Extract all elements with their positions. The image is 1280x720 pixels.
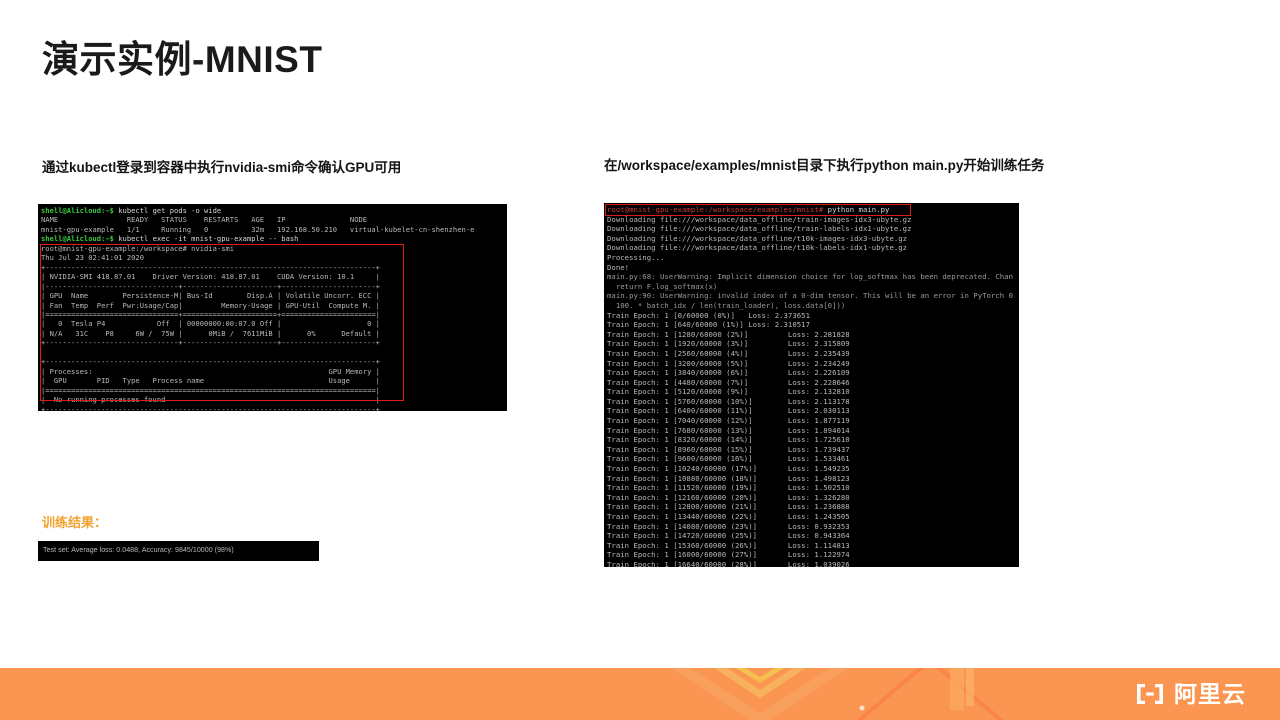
train-log-line: Train Epoch: 1 [8960/60000 (15%)] Loss: …: [607, 445, 1019, 455]
train-log-line: Train Epoch: 1 [5120/60000 (9%)] Loss: 2…: [607, 387, 1019, 397]
train-log-line: Train Epoch: 1 [7680/60000 (13%)] Loss: …: [607, 426, 1019, 436]
pods-table-row: mnist-gpu-example 1/1 Running 0 32m 192.…: [41, 225, 507, 234]
page-title: 演示实例-MNIST: [42, 40, 322, 81]
train-log-line: Train Epoch: 1 [12800/60000 (21%)] Loss:…: [607, 502, 1019, 512]
train-log-line: Train Epoch: 1 [4480/60000 (7%)] Loss: 2…: [607, 378, 1019, 388]
terminal-line: Downloading file:///workspace/data_offli…: [607, 234, 1019, 244]
terminal-line: Processing...: [607, 253, 1019, 263]
nvidia-smi-output: root@mnist-gpu-example:/workspace# nvidi…: [41, 244, 507, 411]
test-result-box: Test set: Average loss: 0.0488, Accuracy…: [38, 541, 319, 561]
terminal-line: | NVIDIA-SMI 418.87.01 Driver Version: 4…: [41, 272, 507, 281]
terminal-line: shell@Alicloud:~$ kubectl get pods -o wi…: [41, 206, 507, 215]
footer-chevron-decoration: [0, 668, 1280, 720]
terminal-line: | N/A 31C P8 6W / 75W | 0MiB / 7611MiB |…: [41, 329, 507, 338]
train-log-line: Train Epoch: 1 [14080/60000 (23%)] Loss:…: [607, 522, 1019, 532]
terminal-line: | GPU Name Persistence-M| Bus-Id Disp.A …: [41, 291, 507, 300]
terminal-line: shell@Alicloud:~$ kubectl exec -it mnist…: [41, 234, 507, 243]
terminal-screenshot-training: root@mnist-gpu-example:/workspace/exampl…: [604, 203, 1019, 567]
terminal-line: |===============================+=======…: [41, 310, 507, 319]
alibaba-cloud-bracket-icon: [1133, 682, 1167, 706]
pods-table-header: NAME READY STATUS RESTARTS AGE IP NODE: [41, 215, 507, 224]
caption-left: 通过kubectl登录到容器中执行nvidia-smi命令确认GPU可用: [42, 158, 562, 178]
train-log-line: Train Epoch: 1 [12160/60000 (20%)] Loss:…: [607, 493, 1019, 503]
terminal-line: Downloading file:///workspace/data_offli…: [607, 243, 1019, 253]
train-log-line: Train Epoch: 1 [640/60000 (1%)] Loss: 2.…: [607, 320, 1019, 330]
brand-logo-text: 阿里云: [1174, 683, 1246, 706]
terminal-line: [41, 348, 507, 357]
train-log-line: Train Epoch: 1 [15360/60000 (26%)] Loss:…: [607, 541, 1019, 551]
terminal-line: +-------------------------------+-------…: [41, 338, 507, 347]
terminal-line: |-------------------------------+-------…: [41, 282, 507, 291]
train-log-line: Train Epoch: 1 [14720/60000 (25%)] Loss:…: [607, 531, 1019, 541]
terminal-line: +---------------------------------------…: [41, 357, 507, 366]
terminal-right-content: root@mnist-gpu-example:/workspace/exampl…: [604, 203, 1019, 567]
terminal-line: root@mnist-gpu-example:/workspace/exampl…: [607, 205, 1019, 215]
terminal-line: Done!: [607, 263, 1019, 273]
terminal-line: root@mnist-gpu-example:/workspace# nvidi…: [41, 244, 507, 253]
train-log-line: Train Epoch: 1 [16000/60000 (27%)] Loss:…: [607, 550, 1019, 560]
terminal-warning-line: main.py:68: UserWarning: Implicit dimens…: [607, 272, 1019, 282]
terminal-line: Downloading file:///workspace/data_offli…: [607, 224, 1019, 234]
terminal-line: Downloading file:///workspace/data_offli…: [607, 215, 1019, 225]
train-log-line: Train Epoch: 1 [9600/60000 (16%)] Loss: …: [607, 454, 1019, 464]
result-label: 训练结果：: [42, 512, 107, 531]
shell-command: kubectl exec -it mnist-gpu-example -- ba…: [114, 234, 299, 243]
terminal-line: +---------------------------------------…: [41, 263, 507, 272]
shell-command: python main.py: [823, 205, 889, 214]
test-result-text: Test set: Average loss: 0.0488, Accuracy…: [38, 541, 319, 555]
train-log-line: Train Epoch: 1 [16640/60000 (28%)] Loss:…: [607, 560, 1019, 567]
terminal-line: Thu Jul 23 02:41:01 2020: [41, 253, 507, 262]
terminal-line: | 0 Tesla P4 Off | 00000000:00:07.0 Off …: [41, 319, 507, 328]
shell-prompt: root@mnist-gpu-example:/workspace/exampl…: [607, 205, 823, 214]
train-log-line: Train Epoch: 1 [6400/60000 (11%)] Loss: …: [607, 406, 1019, 416]
terminal-line: +---------------------------------------…: [41, 405, 507, 411]
shell-prompt: shell@Alicloud:~$: [41, 234, 114, 243]
train-log-line: Train Epoch: 1 [3200/60000 (5%)] Loss: 2…: [607, 359, 1019, 369]
train-log-line: Train Epoch: 1 [1920/60000 (3%)] Loss: 2…: [607, 339, 1019, 349]
train-log-line: Train Epoch: 1 [8320/60000 (14%)] Loss: …: [607, 435, 1019, 445]
train-log-line: Train Epoch: 1 [1280/60000 (2%)] Loss: 2…: [607, 330, 1019, 340]
train-log-line: Train Epoch: 1 [3840/60000 (6%)] Loss: 2…: [607, 368, 1019, 378]
train-log-line: Train Epoch: 1 [10240/60000 (17%)] Loss:…: [607, 464, 1019, 474]
terminal-warning-line: return F.log_softmax(x): [607, 282, 1019, 292]
terminal-warning-line: 100. * batch_idx / len(train_loader), lo…: [607, 301, 1019, 311]
terminal-screenshot-nvidia-smi: shell@Alicloud:~$ kubectl get pods -o wi…: [38, 204, 507, 411]
slide-root: 演示实例-MNIST 通过kubectl登录到容器中执行nvidia-smi命令…: [0, 0, 1280, 720]
terminal-warning-line: main.py:90: UserWarning: invalid index o…: [607, 291, 1019, 301]
shell-prompt: shell@Alicloud:~$: [41, 206, 114, 215]
train-log-line: Train Epoch: 1 [7040/60000 (12%)] Loss: …: [607, 416, 1019, 426]
shell-command: kubectl get pods -o wide: [114, 206, 221, 215]
terminal-line: | Processes: GPU Memory |: [41, 367, 507, 376]
train-log-head: Train Epoch: 1 [0/60000 (0%)] Loss: 2.37…: [607, 311, 1019, 330]
terminal-left-content: shell@Alicloud:~$ kubectl get pods -o wi…: [38, 204, 507, 411]
train-log-line: Train Epoch: 1 [10880/60000 (18%)] Loss:…: [607, 474, 1019, 484]
terminal-line: | GPU PID Type Process name Usage |: [41, 376, 507, 385]
train-log-line: Train Epoch: 1 [11520/60000 (19%)] Loss:…: [607, 483, 1019, 493]
train-log-line: Train Epoch: 1 [0/60000 (0%)] Loss: 2.37…: [607, 311, 1019, 321]
train-log-line: Train Epoch: 1 [5760/60000 (10%)] Loss: …: [607, 397, 1019, 407]
train-log-line: Train Epoch: 1 [2560/60000 (4%)] Loss: 2…: [607, 349, 1019, 359]
terminal-line: | No running processes found |: [41, 395, 507, 404]
warning-output: main.py:68: UserWarning: Implicit dimens…: [607, 272, 1019, 310]
terminal-line: |=======================================…: [41, 386, 507, 395]
footer-bar: 阿里云: [0, 668, 1280, 720]
caption-right: 在/workspace/examples/mnist目录下执行python ma…: [604, 156, 1104, 176]
train-log-output: Train Epoch: 1 [1280/60000 (2%)] Loss: 2…: [607, 330, 1019, 567]
terminal-line: | Fan Temp Perf Pwr:Usage/Cap| Memory-Us…: [41, 301, 507, 310]
download-output: Downloading file:///workspace/data_offli…: [607, 215, 1019, 273]
brand-logo: 阿里云: [1133, 682, 1246, 706]
train-log-line: Train Epoch: 1 [13440/60000 (22%)] Loss:…: [607, 512, 1019, 522]
